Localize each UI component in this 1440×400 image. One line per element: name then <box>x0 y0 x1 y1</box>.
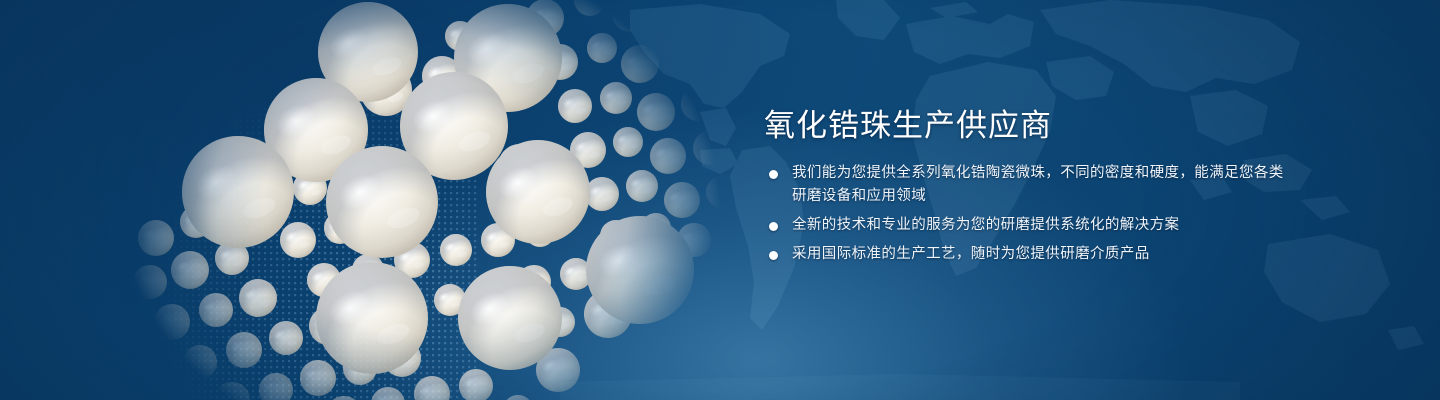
hero-banner: 氧化锆珠生产供应商 我们能为您提供全系列氧化锆陶瓷微珠，不同的密度和硬度，能满足… <box>0 0 1440 400</box>
list-item: 采用国际标准的生产工艺，随时为您提供研磨介质产品 <box>764 243 1284 266</box>
bullet-dot-icon <box>769 222 778 231</box>
bullet-dot-icon <box>769 170 778 179</box>
list-item: 全新的技术和专业的服务为您的研磨提供系统化的解决方案 <box>764 214 1284 237</box>
bullet-text: 我们能为您提供全系列氧化锆陶瓷微珠，不同的密度和硬度，能满足您各类研磨设备和应用… <box>792 162 1284 208</box>
list-item: 我们能为您提供全系列氧化锆陶瓷微珠，不同的密度和硬度，能满足您各类研磨设备和应用… <box>764 162 1284 208</box>
banner-bullet-list: 我们能为您提供全系列氧化锆陶瓷微珠，不同的密度和硬度，能满足您各类研磨设备和应用… <box>764 162 1284 266</box>
bullet-dot-icon <box>769 251 778 260</box>
banner-headline: 氧化锆珠生产供应商 <box>764 106 1284 146</box>
bullet-text: 采用国际标准的生产工艺，随时为您提供研磨介质产品 <box>792 243 1284 266</box>
banner-copy: 氧化锆珠生产供应商 我们能为您提供全系列氧化锆陶瓷微珠，不同的密度和硬度，能满足… <box>764 106 1284 272</box>
bullet-text: 全新的技术和专业的服务为您的研磨提供系统化的解决方案 <box>792 214 1284 237</box>
zirconia-beads-photo <box>120 0 760 400</box>
